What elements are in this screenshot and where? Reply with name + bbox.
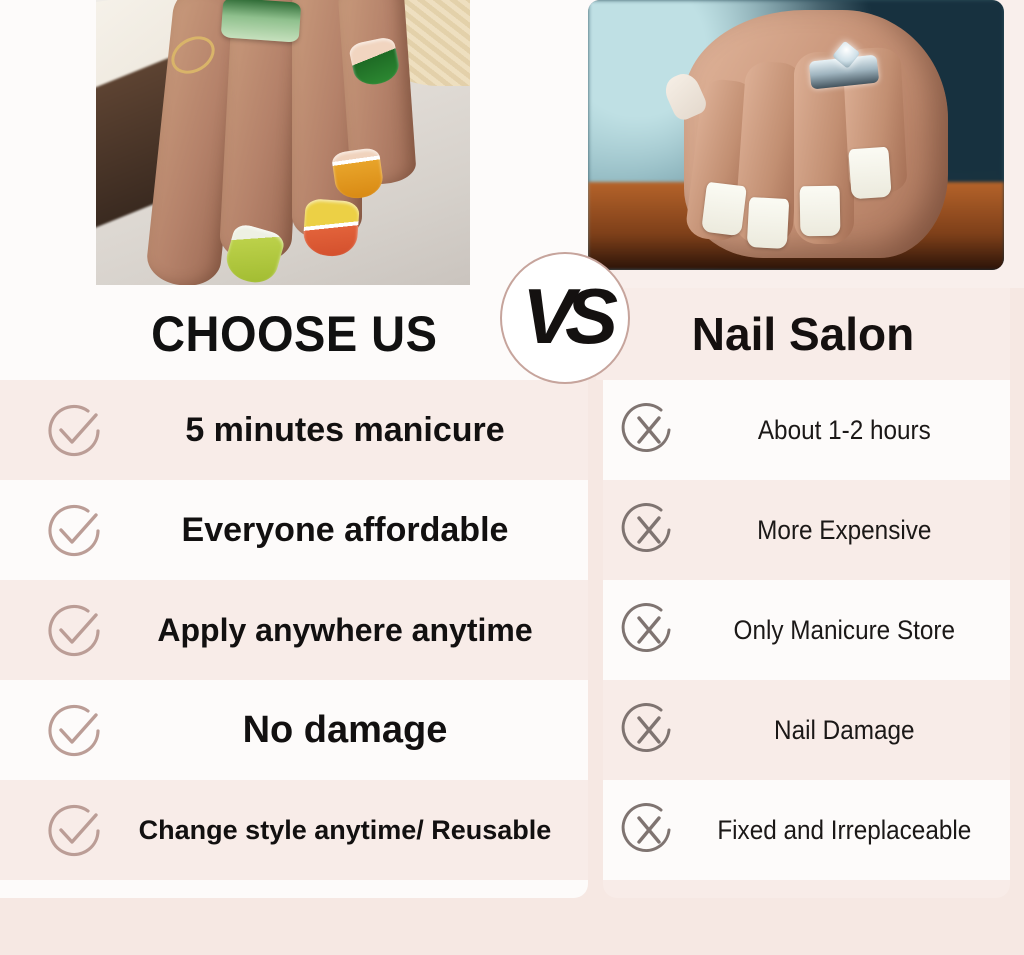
choose-us-title: CHOOSE US <box>151 305 437 363</box>
vs-badge: VS <box>500 252 630 384</box>
check-circle-icon <box>42 697 120 763</box>
check-circle-icon <box>42 397 120 463</box>
check-circle-icon <box>42 597 120 663</box>
vs-label: VS <box>522 277 608 355</box>
x-circle-icon <box>619 800 693 860</box>
white-nail <box>848 147 891 200</box>
table-row: 5 minutes manicure <box>0 380 588 480</box>
table-row: Fixed and Irreplaceable <box>603 780 1010 880</box>
table-row: Apply anywhere anytime <box>0 580 588 680</box>
table-row: Everyone affordable <box>0 480 588 580</box>
choose-us-column: 5 minutes manicure Everyone affordable A… <box>0 380 588 898</box>
white-nail <box>701 182 747 237</box>
row-label: Apply anywhere anytime <box>120 612 588 649</box>
row-label: More Expensive <box>709 515 994 546</box>
check-circle-icon <box>42 497 120 563</box>
choose-us-header: CHOOSE US <box>0 288 588 380</box>
row-label: Only Manicure Store <box>709 615 994 646</box>
comparison-columns: 5 minutes manicure Everyone affordable A… <box>0 380 1024 898</box>
photo-band <box>0 0 1024 288</box>
row-label: No damage <box>120 709 588 752</box>
salon-manicure-photo <box>588 0 1004 270</box>
citrus-nail-art-photo <box>96 0 470 285</box>
table-row: Only Manicure Store <box>603 580 1010 680</box>
x-circle-icon <box>619 400 693 460</box>
x-circle-icon <box>619 600 693 660</box>
row-label: Change style anytime/ Reusable <box>120 815 588 846</box>
row-label: 5 minutes manicure <box>120 411 588 450</box>
column-footer-strip <box>603 880 1010 898</box>
nail-salon-header: Nail Salon <box>596 288 1010 380</box>
x-circle-icon <box>619 700 693 760</box>
nail-salon-title: Nail Salon <box>692 307 914 361</box>
table-row: More Expensive <box>603 480 1010 580</box>
jade-ring <box>221 0 302 43</box>
row-label: About 1-2 hours <box>709 415 994 446</box>
column-footer-strip <box>0 880 588 898</box>
row-label: Everyone affordable <box>120 511 588 550</box>
row-label: Fixed and Irreplaceable <box>709 815 994 846</box>
row-label: Nail Damage <box>709 715 994 746</box>
table-row: Change style anytime/ Reusable <box>0 780 588 880</box>
white-nail <box>800 186 841 237</box>
check-circle-icon <box>42 797 120 863</box>
table-row: Nail Damage <box>603 680 1010 780</box>
white-nail <box>747 197 790 249</box>
table-row: No damage <box>0 680 588 780</box>
table-row: About 1-2 hours <box>603 380 1010 480</box>
nail-salon-column: About 1-2 hours More Expensive Only Mani… <box>603 380 1010 898</box>
x-circle-icon <box>619 500 693 560</box>
